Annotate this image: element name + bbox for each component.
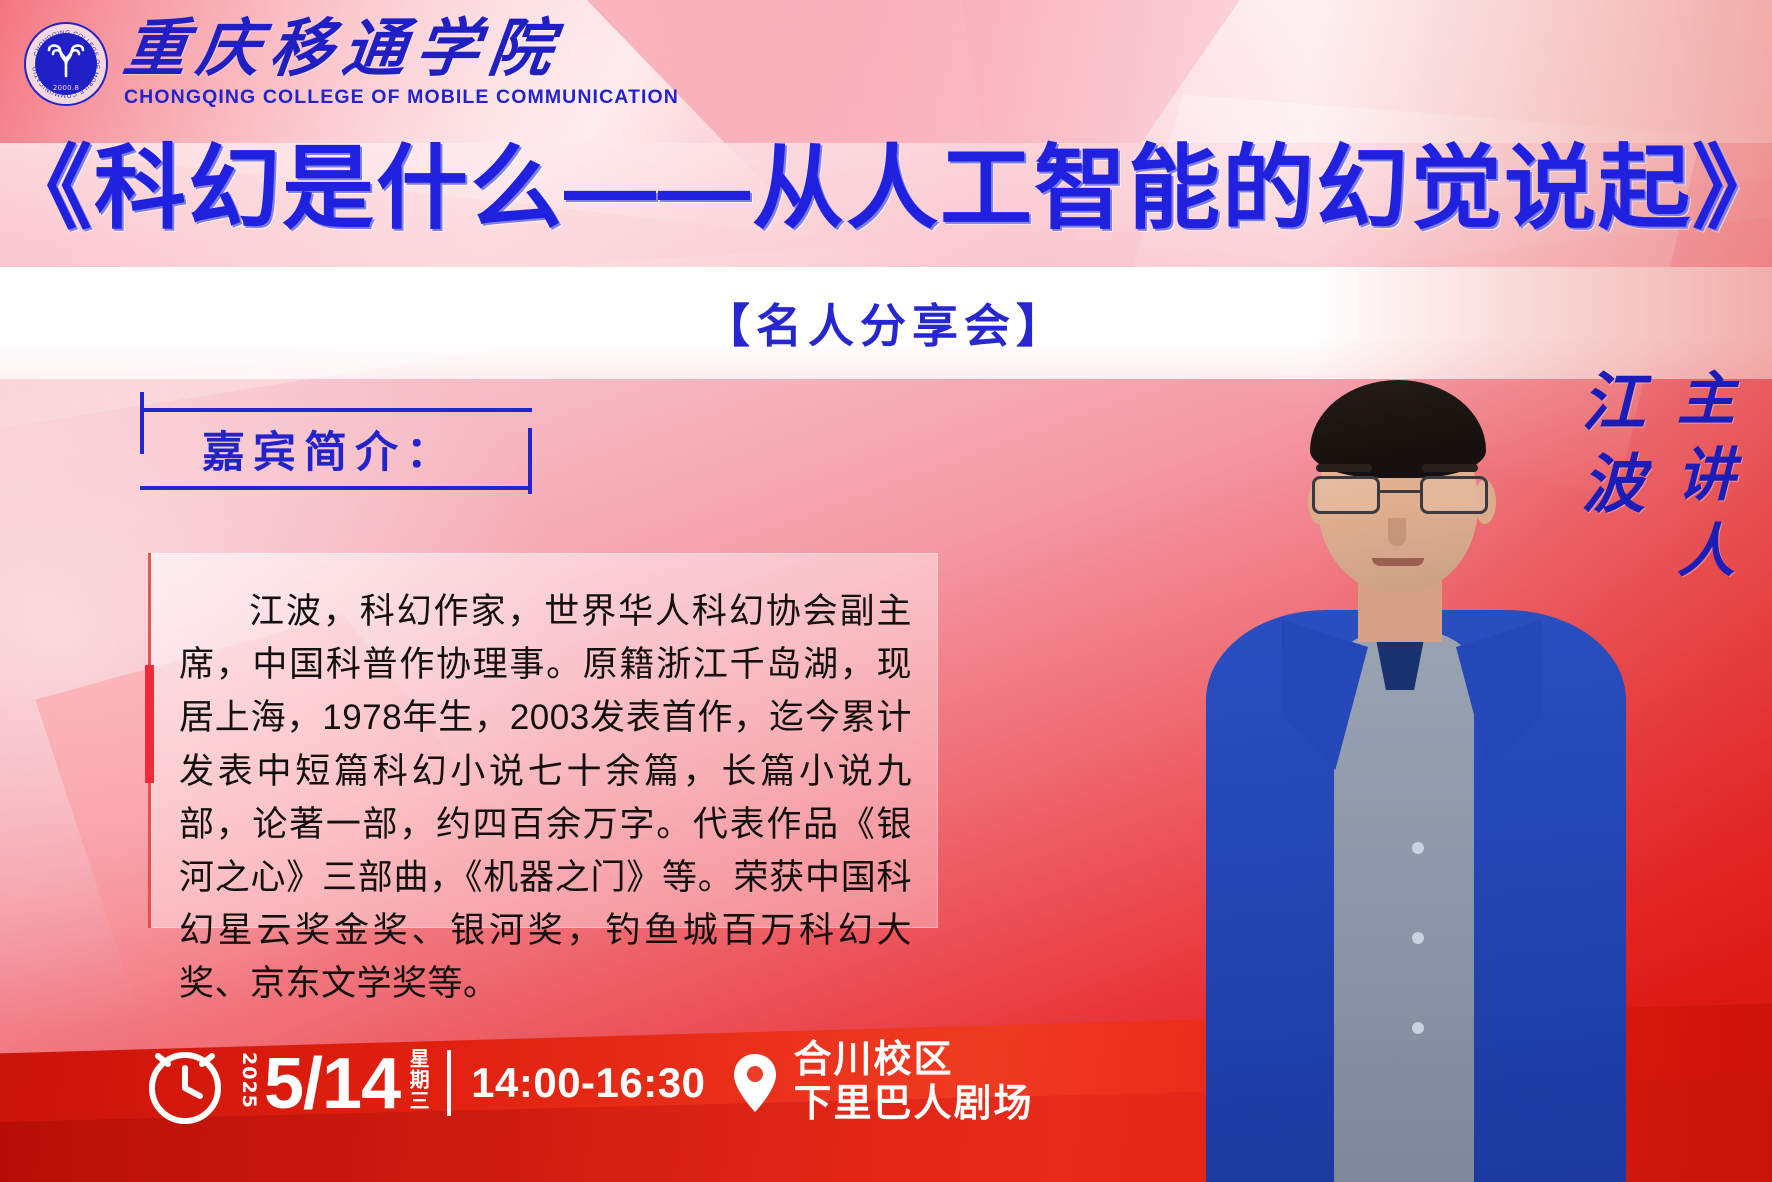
glasses-lens-left: [1312, 476, 1380, 514]
poster-subtitle: 【名人分享会】: [0, 290, 1772, 356]
poster-canvas: CHONGQING COLLEGE OF MOBILE COMMUNICATIO…: [0, 0, 1772, 1182]
event-venue-block: 合川校区 下里巴人剧场: [793, 1039, 1033, 1126]
event-year: 2025: [238, 1052, 260, 1109]
speaker-glasses-icon: [1310, 476, 1490, 516]
glasses-bridge: [1380, 490, 1420, 493]
poster-title: 《科幻是什么——从人工智能的幻觉说起》: [0, 140, 1772, 239]
university-header: CHONGQING COLLEGE OF MOBILE COMMUNICATIO…: [24, 18, 679, 109]
clock-icon: [142, 1040, 228, 1126]
heading-right-tick: [528, 428, 532, 494]
event-weekday: 星期三: [406, 1048, 427, 1111]
university-seal-icon: CHONGQING COLLEGE OF MOBILE COMMUNICATIO…: [24, 22, 108, 106]
event-info-bar: 2025 5/14 星期三 14:00-16:30 合川校区 下里巴人剧场: [142, 1039, 1033, 1126]
heading-bottom-rule: [140, 486, 532, 490]
event-date: 5/14: [264, 1051, 400, 1117]
speaker-vertical-labels: 江波 主讲人: [1572, 368, 1732, 596]
location-pin-icon: [731, 1052, 779, 1114]
guest-bio-card: 江波，科幻作家，世界华人科幻协会副主席，中国科普作协理事。原籍浙江千岛湖，现居上…: [148, 553, 938, 928]
speaker-brow-right: [1422, 464, 1478, 472]
speaker-sweater: [1334, 630, 1474, 1182]
speaker-mouth: [1372, 558, 1424, 566]
speaker-photo: [1206, 372, 1626, 1182]
jacket-button: [1412, 1022, 1424, 1034]
speaker-role-vertical: 主讲人: [1668, 368, 1732, 596]
speaker-name-vertical: 江波: [1572, 368, 1642, 532]
university-name-en: CHONGQING COLLEGE OF MOBILE COMMUNICATIO…: [124, 86, 679, 109]
event-venue-campus: 合川校区: [793, 1039, 1033, 1082]
speaker-nose: [1388, 518, 1406, 546]
guest-intro-heading: 嘉宾简介：: [140, 392, 532, 490]
jacket-button: [1412, 932, 1424, 944]
speaker-brow-left: [1316, 464, 1372, 472]
event-time: 14:00-16:30: [471, 1059, 705, 1107]
footer-divider: [447, 1050, 451, 1116]
university-name-block: 重庆移通学院 CHONGQING COLLEGE OF MOBILE COMMU…: [124, 18, 679, 109]
guest-intro-label: 嘉宾简介：: [202, 418, 457, 480]
jacket-button: [1412, 842, 1424, 854]
glasses-lens-right: [1420, 476, 1488, 514]
seal-year-label: 2000.8: [53, 84, 79, 92]
heading-left-tick: [140, 392, 144, 454]
event-date-block: 2025 5/14 星期三: [238, 1048, 427, 1117]
guest-bio-text: 江波，科幻作家，世界华人科幻协会副主席，中国科普作协理事。原籍浙江千岛湖，现居上…: [179, 585, 912, 1011]
event-venue-hall: 下里巴人剧场: [793, 1083, 1033, 1126]
seal-ring-text-icon: CHONGQING COLLEGE OF MOBILE COMMUNICATIO…: [26, 24, 106, 104]
heading-top-rule: [140, 408, 532, 412]
bio-accent-bar: [145, 665, 154, 783]
university-name-cn: 重庆移通学院: [120, 18, 683, 81]
